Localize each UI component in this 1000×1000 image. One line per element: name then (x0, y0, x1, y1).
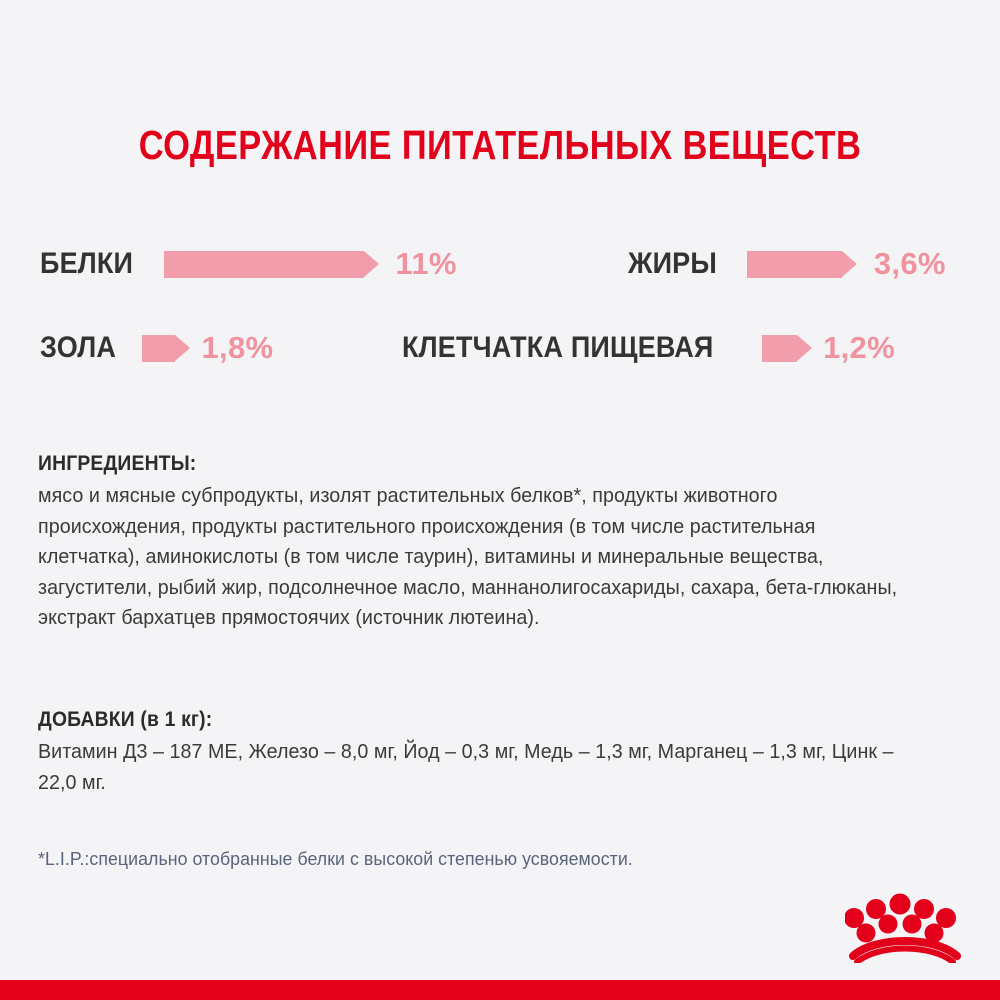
lip-footnote: *L.I.P.:специально отобранные белки с вы… (38, 848, 633, 870)
nutrient-value-protein: 11% (396, 246, 457, 282)
nutrient-bar-fibre (762, 335, 797, 362)
ingredients-heading: ИНГРЕДИЕНТЫ: (38, 452, 884, 476)
page-title: СОДЕРЖАНИЕ ПИТАТЕЛЬНЫХ ВЕЩЕСТВ (80, 122, 920, 169)
nutrition-info-page: СОДЕРЖАНИЕ ПИТАТЕЛЬНЫХ ВЕЩЕСТВ БЕЛКИ 11%… (0, 0, 1000, 1000)
nutrient-row-ash: ЗОЛА 1,8% (40, 330, 273, 366)
nutrient-label-ash: ЗОЛА (40, 331, 116, 365)
nutrient-row-protein: БЕЛКИ 11% (40, 246, 457, 282)
nutrient-row-fat: ЖИРЫ 3,6% (628, 246, 946, 282)
additives-section: ДОБАВКИ (в 1 кг): Витамин Д3 – 187 МЕ, Ж… (38, 708, 958, 798)
nutrient-label-protein: БЕЛКИ (40, 247, 133, 281)
nutrient-label-fibre: КЛЕТЧАТКА ПИЩЕВАЯ (402, 331, 713, 365)
nutrient-value-fibre: 1,2% (823, 330, 895, 366)
ingredients-section: ИНГРЕДИЕНТЫ: мясо и мясные субпродукты, … (38, 452, 958, 634)
nutrient-value-fat: 3,6% (874, 246, 946, 282)
nutrient-bar-protein (164, 251, 364, 278)
additives-body: Витамин Д3 – 187 МЕ, Железо – 8,0 мг, Йо… (38, 737, 921, 798)
additives-heading: ДОБАВКИ (в 1 кг): (38, 708, 884, 732)
royal-canin-crown-icon (845, 888, 965, 963)
nutrient-row-fibre: КЛЕТЧАТКА ПИЩЕВАЯ 1,2% (402, 330, 895, 366)
nutrient-bar-fat (747, 251, 842, 278)
bottom-accent-bar (0, 980, 1000, 1000)
nutrient-bar-ash (142, 335, 175, 362)
nutrient-label-fat: ЖИРЫ (628, 247, 717, 281)
ingredients-body: мясо и мясные субпродукты, изолят растит… (38, 481, 921, 634)
nutrient-value-ash: 1,8% (202, 330, 274, 366)
